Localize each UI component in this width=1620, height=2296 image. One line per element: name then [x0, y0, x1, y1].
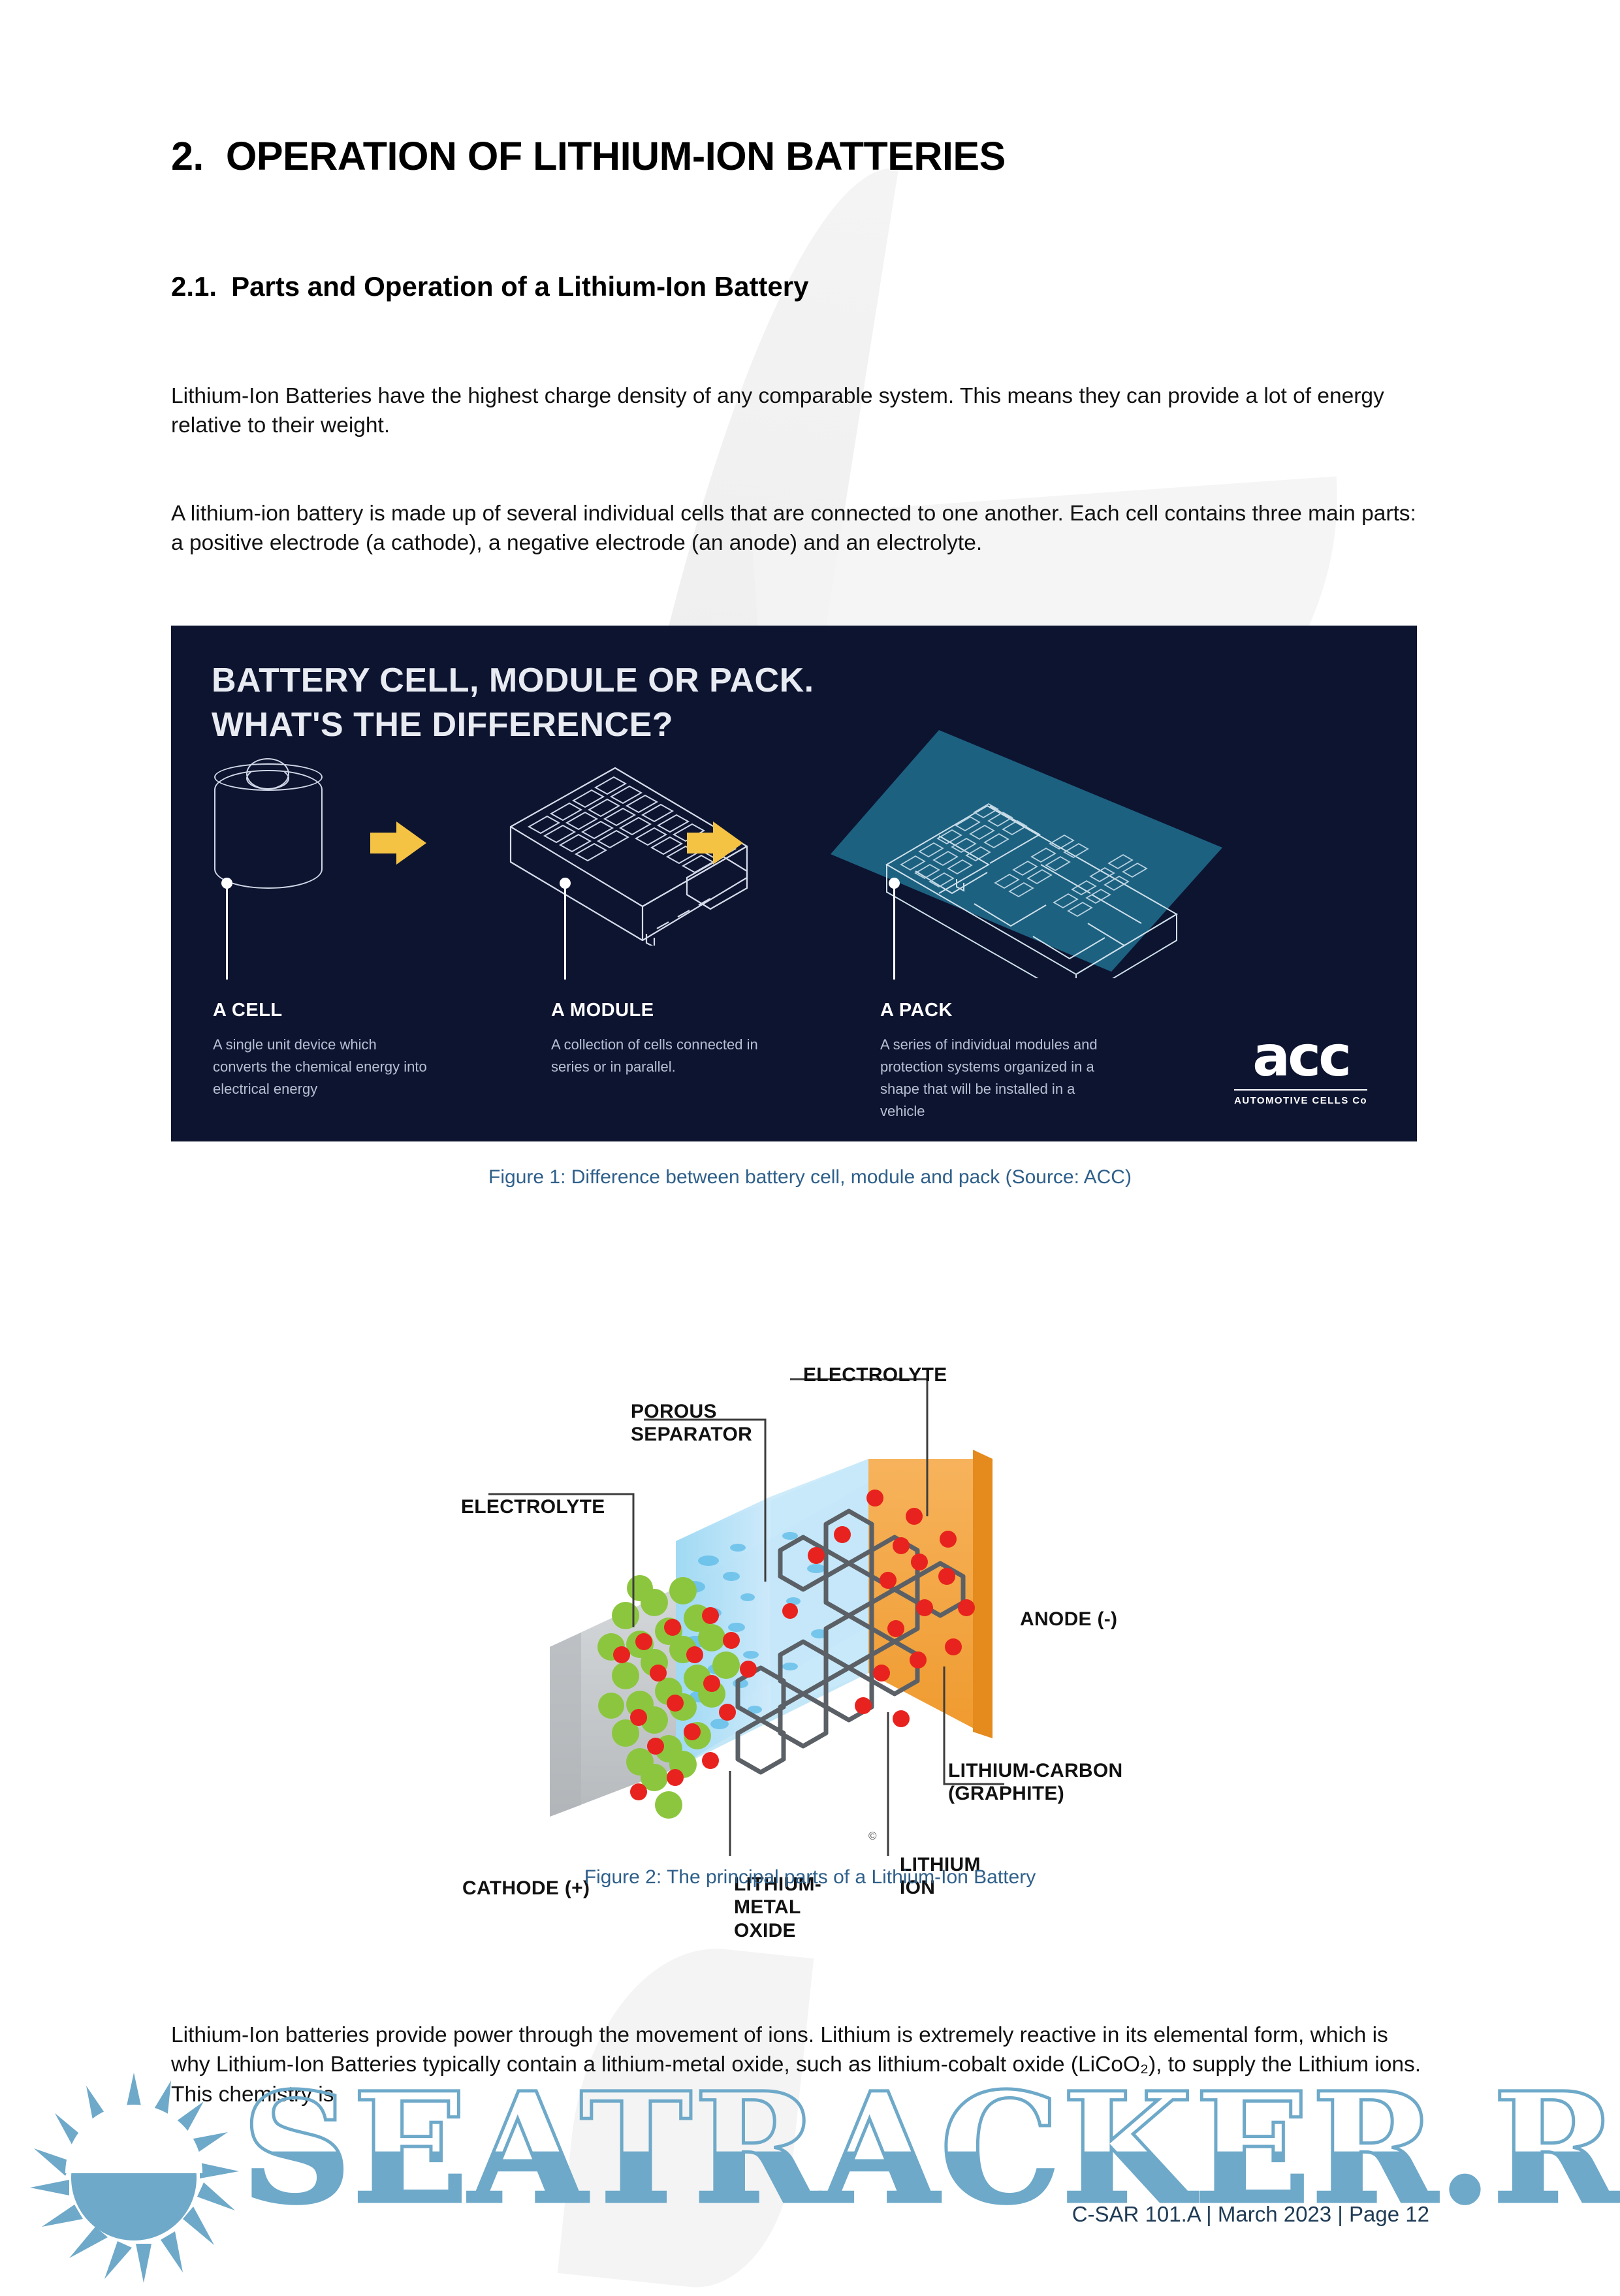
figure-1-image: BATTERY CELL, MODULE OR PACK. WHAT'S THE…	[171, 626, 1417, 1141]
label-electrolyte-right: ELECTROLYTE	[803, 1363, 947, 1386]
label-electrolyte-left: ELECTROLYTE	[461, 1495, 605, 1518]
figure1-headline-line1: BATTERY CELL, MODULE OR PACK.	[212, 661, 814, 700]
paragraph-2: A lithium-ion battery is made up of seve…	[171, 499, 1425, 558]
acc-logo-mark: acc	[1234, 1030, 1367, 1084]
label-lithium-carbon: LITHIUM-CARBON (GRAPHITE)	[948, 1759, 1123, 1806]
acc-logo-subtitle: AUTOMOTIVE CELLS Co	[1234, 1089, 1367, 1106]
figure1-pack-description: A series of individual modules and prote…	[880, 1034, 1122, 1123]
chapter-number: 2.	[171, 134, 204, 178]
arrow-right-icon-2	[687, 821, 743, 865]
section-heading: 2.1.Parts and Operation of a Lithium-Ion…	[171, 271, 808, 302]
battery-cell-icon	[214, 758, 324, 894]
figure2-copyright-mark: ©	[868, 1830, 877, 1843]
figure1-module-description: A collection of cells connected in serie…	[551, 1034, 767, 1078]
section-number: 2.1.	[171, 271, 217, 302]
paragraph-3: Lithium-Ion batteries provide power thro…	[171, 2020, 1425, 2110]
leader-line-cell	[226, 888, 228, 980]
figure1-pack-title: A PACK	[880, 1000, 953, 1021]
figure1-module-title: A MODULE	[551, 1000, 654, 1021]
page-footer: C-SAR 101.A | March 2023 | Page 12	[1072, 2202, 1429, 2227]
chapter-heading: 2.OPERATION OF LITHIUM-ION BATTERIES	[171, 133, 1006, 179]
label-porous-separator: POROUS SEPARATOR	[631, 1400, 752, 1446]
label-anode: ANODE (-)	[1020, 1608, 1117, 1631]
arrow-right-icon-1	[370, 821, 426, 865]
chapter-title-text: OPERATION OF LITHIUM-ION BATTERIES	[226, 134, 1006, 178]
figure1-cell-description: A single unit device which converts the …	[213, 1034, 428, 1100]
section-title-text: Parts and Operation of a Lithium-Ion Bat…	[231, 271, 808, 302]
battery-pack-icon	[824, 724, 1229, 978]
figure1-headline-line2: WHAT'S THE DIFFERENCE?	[212, 705, 673, 744]
document-page: 2.OPERATION OF LITHIUM-ION BATTERIES 2.1…	[0, 0, 1620, 2291]
paragraph-1: Lithium-Ion Batteries have the highest c…	[171, 381, 1425, 441]
leader-line-module	[564, 888, 566, 980]
figure-2-image: ELECTROLYTE POROUS SEPARATOR ELECTROLYTE…	[451, 1320, 1175, 1856]
figure-2-caption: Figure 2: The principal parts of a Lithi…	[0, 1866, 1620, 1889]
figure-1-caption: Figure 1: Difference between battery cel…	[0, 1166, 1620, 1188]
acc-logo: acc AUTOMOTIVE CELLS Co	[1234, 1030, 1367, 1106]
figure1-cell-title: A CELL	[213, 1000, 283, 1021]
leader-line-pack	[893, 888, 895, 980]
